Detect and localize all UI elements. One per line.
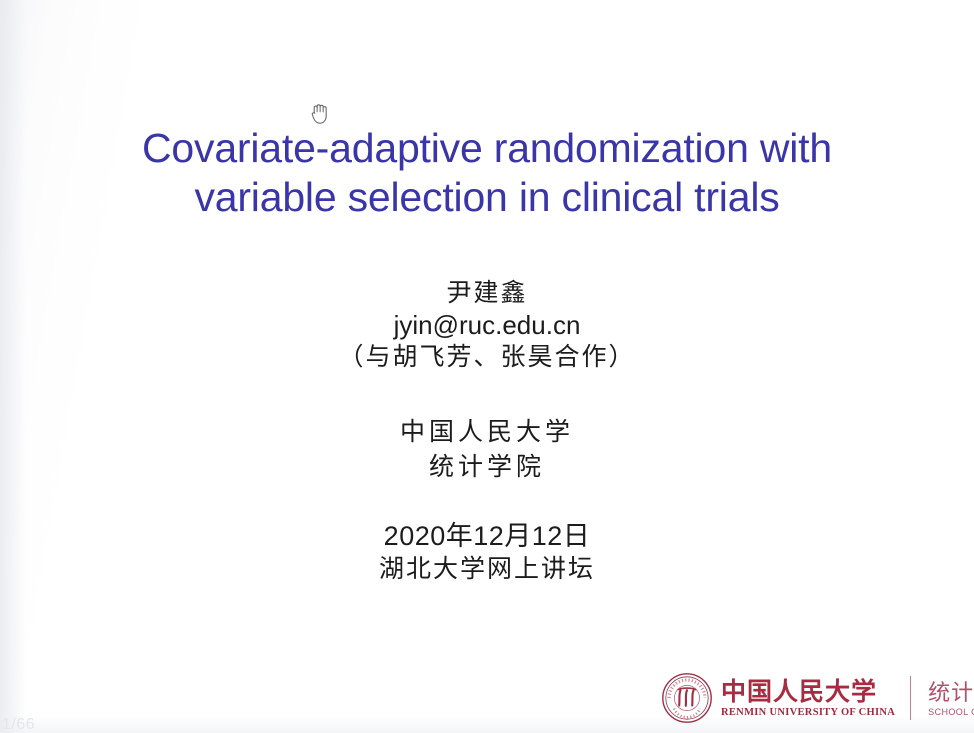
- affiliation-university: 中国人民大学: [0, 415, 974, 450]
- author-collaborators: （与胡飞芳、张昊合作）: [0, 342, 974, 374]
- author-email: jyin@ruc.edu.cn: [0, 309, 974, 342]
- logo-divider: [910, 676, 911, 720]
- title-line-2: variable selection in clinical trials: [0, 173, 974, 222]
- ruc-logo: 中国人民大学 RENMIN UNIVERSITY OF CHINA 统计学院 S…: [661, 667, 967, 729]
- author-block: 尹建鑫 jyin@ruc.edu.cn （与胡飞芳、张昊合作）: [0, 279, 974, 374]
- slide-number: 1/66: [2, 716, 35, 733]
- slide-title: Covariate-adaptive randomization with va…: [0, 124, 974, 222]
- event-venue: 湖北大学网上讲坛: [0, 553, 974, 587]
- logo-school-en: SCHOOL OF STATISTICS: [928, 706, 974, 719]
- logo-school-cn: 统计学院: [928, 680, 974, 706]
- logo-university-group: 中国人民大学 RENMIN UNIVERSITY OF CHINA: [721, 677, 895, 720]
- affiliation-school: 统计学院: [0, 450, 974, 485]
- title-line-1: Covariate-adaptive randomization with: [0, 124, 974, 173]
- event-date: 2020年12月12日: [0, 519, 974, 553]
- affiliation-block: 中国人民大学 统计学院: [0, 415, 974, 485]
- presentation-slide[interactable]: Covariate-adaptive randomization with va…: [0, 0, 974, 733]
- logo-university-cn: 中国人民大学: [721, 679, 895, 706]
- logo-university-en: RENMIN UNIVERSITY OF CHINA: [721, 706, 895, 720]
- event-block: 2020年12月12日 湖北大学网上讲坛: [0, 519, 974, 587]
- logo-school-group: 统计学院 SCHOOL OF STATISTICS: [928, 678, 974, 719]
- ruc-seal-icon: [661, 672, 713, 724]
- author-name: 尹建鑫: [0, 279, 974, 309]
